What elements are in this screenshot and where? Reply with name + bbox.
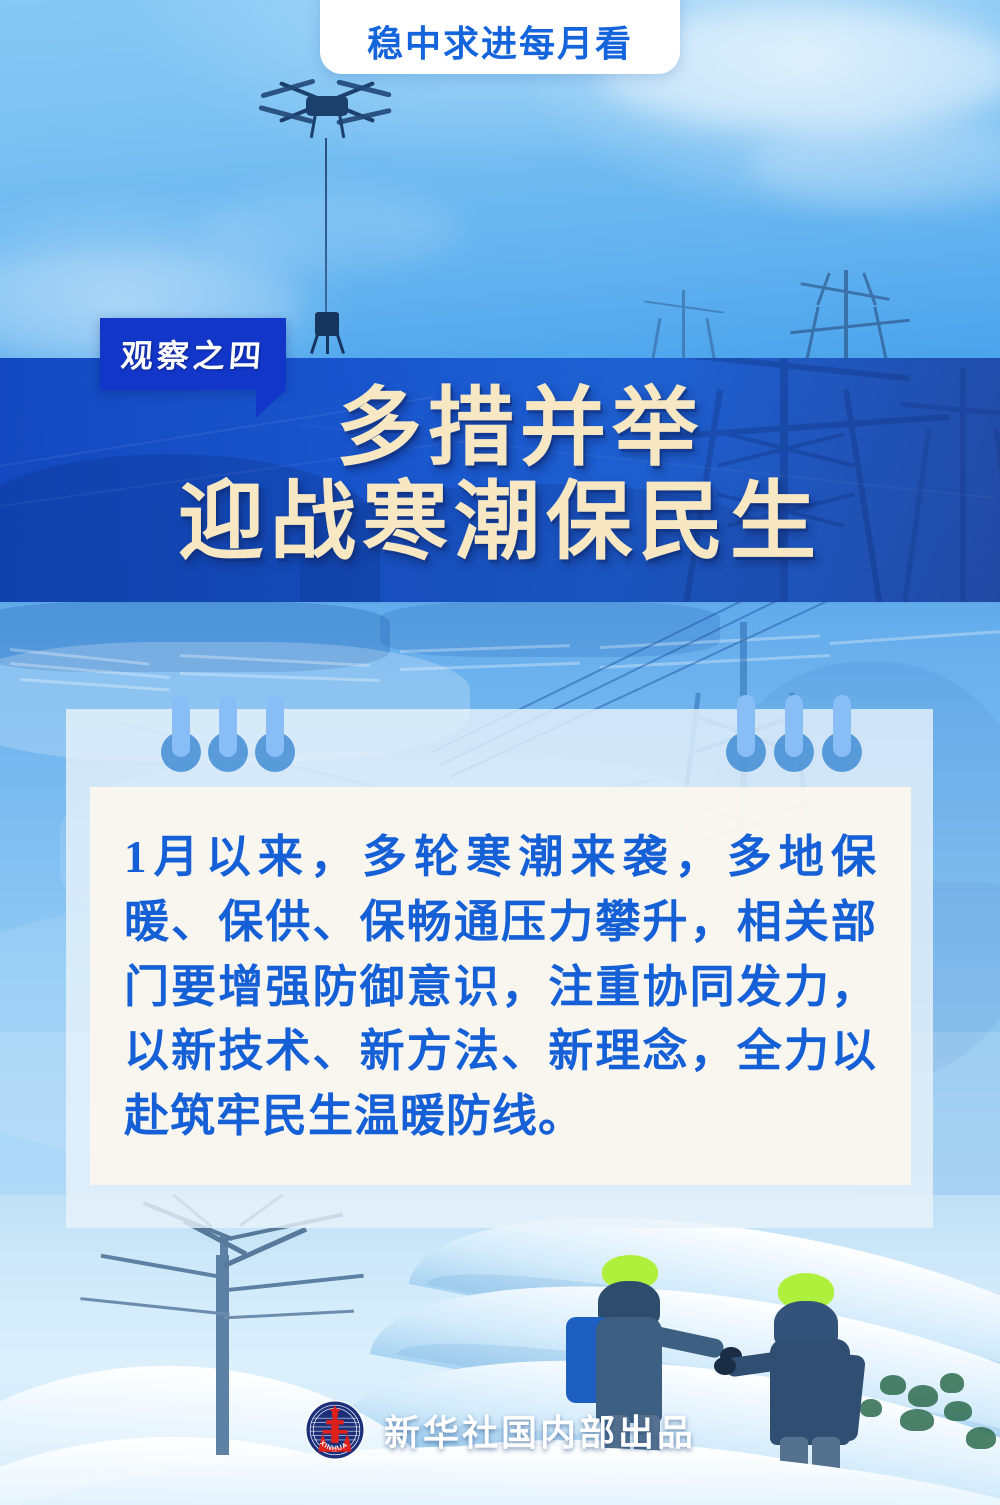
poster-root: 稳中求进每月看 观察之四 多措并举 迎战寒潮保民生 1月以来，多轮寒潮来袭，多地… bbox=[0, 0, 1000, 1505]
footer-label: 新华社国内部出品 bbox=[384, 1404, 696, 1456]
transmission-tower-silhouette bbox=[760, 270, 940, 370]
main-title-line2: 迎战寒潮保民生 bbox=[0, 479, 1000, 567]
main-title: 多措并举 迎战寒潮保民生 bbox=[0, 385, 1000, 566]
drone-icon bbox=[262, 72, 392, 142]
main-title-line1: 多措并举 bbox=[0, 385, 1000, 473]
drone-tether bbox=[325, 138, 327, 318]
section-badge-label: 观察之四 bbox=[119, 331, 266, 377]
note-card-inner: 1月以来，多轮寒潮来袭，多地保暖、保供、保畅通压力攀升，相关部门要增强防御意识，… bbox=[90, 787, 911, 1185]
section-badge[interactable]: 观察之四 bbox=[100, 318, 286, 390]
top-tab-label: 稳中求进每月看 bbox=[367, 26, 633, 62]
top-tab[interactable]: 稳中求进每月看 bbox=[320, 0, 680, 74]
note-card-body: 1月以来，多轮寒潮来袭，多地保暖、保供、保畅通压力攀升，相关部门要增强防御意识，… bbox=[124, 825, 877, 1149]
drone-payload bbox=[305, 312, 349, 356]
xinhua-logo-icon: XINHUA bbox=[304, 1399, 366, 1461]
footer: XINHUA 新华社国内部出品 bbox=[0, 1398, 1000, 1462]
